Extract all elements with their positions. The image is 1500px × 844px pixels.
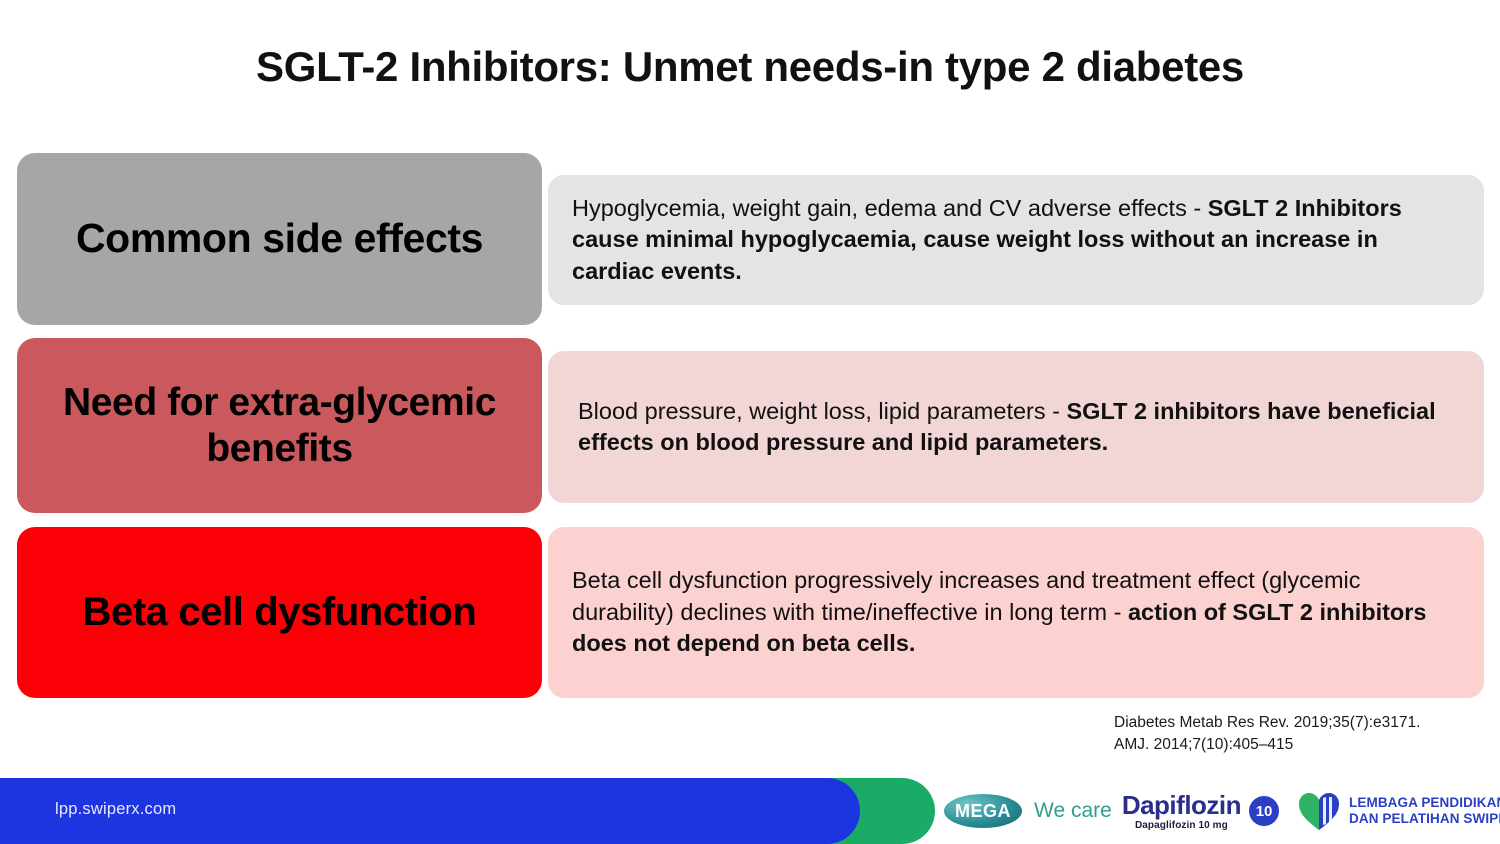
- row-label-text-1: Common side effects: [76, 215, 483, 263]
- lpp-logo-text: LEMBAGA PENDIDIKAN DAN PELATIHAN SWIPERX: [1349, 795, 1500, 828]
- row-beta-cell-dysfunction: Beta cell dysfunction Beta cell dysfunct…: [0, 527, 1500, 698]
- content-rows: Common side effects Hypoglycemia, weight…: [0, 153, 1500, 713]
- row-body-text-2: Blood pressure, weight loss, lipid param…: [578, 396, 1458, 459]
- row-extra-glycemic-benefits: Need for extra-glycemic benefits Blood p…: [0, 338, 1500, 513]
- lpp-logo-line-2: DAN PELATIHAN SWIPERX: [1349, 811, 1500, 827]
- row-body-panel-1: Hypoglycemia, weight gain, edema and CV …: [548, 175, 1484, 305]
- row-body-text-1: Hypoglycemia, weight gain, edema and CV …: [572, 193, 1456, 287]
- footer-url[interactable]: lpp.swiperx.com: [55, 800, 176, 819]
- footer-logos: MEGA We care Dapiflozin Dapaglifozin 10 …: [940, 778, 1500, 844]
- citation-block: Diabetes Metab Res Rev. 2019;35(7):e3171…: [1114, 712, 1484, 757]
- mega-logo: MEGA: [944, 794, 1022, 828]
- row-body-plain-1: Hypoglycemia, weight gain, edema and CV …: [572, 195, 1208, 221]
- dapiflozin-brand: Dapiflozin Dapaglifozin 10 mg: [1122, 792, 1241, 831]
- row-body-plain-2: Blood pressure, weight loss, lipid param…: [578, 398, 1067, 424]
- citation-line-2: AMJ. 2014;7(10):405–415: [1114, 734, 1484, 756]
- row-body-text-3: Beta cell dysfunction progressively incr…: [572, 565, 1458, 661]
- row-common-side-effects: Common side effects Hypoglycemia, weight…: [0, 153, 1500, 325]
- lpp-swiperx-logo: LEMBAGA PENDIDIKAN DAN PELATIHAN SWIPERX: [1297, 790, 1500, 832]
- lpp-logo-line-1: LEMBAGA PENDIDIKAN: [1349, 795, 1500, 811]
- mega-logo-text: MEGA: [955, 801, 1011, 822]
- brand-name: Dapiflozin: [1122, 792, 1241, 818]
- heart-book-icon: [1297, 790, 1343, 832]
- footer: lpp.swiperx.com MEGA We care Dapiflozin …: [0, 778, 1500, 844]
- row-label-text-3: Beta cell dysfunction: [83, 589, 477, 635]
- row-body-panel-3: Beta cell dysfunction progressively incr…: [548, 527, 1484, 698]
- brand-subtitle: Dapaglifozin 10 mg: [1122, 820, 1241, 831]
- row-label-card-1: Common side effects: [17, 153, 542, 325]
- dose-badge-icon: 10: [1249, 796, 1279, 826]
- row-body-panel-2: Blood pressure, weight loss, lipid param…: [548, 351, 1484, 503]
- citation-line-1: Diabetes Metab Res Rev. 2019;35(7):e3171…: [1114, 712, 1484, 734]
- page-title: SGLT-2 Inhibitors: Unmet needs-in type 2…: [0, 44, 1500, 90]
- we-care-tagline: We care: [1034, 799, 1112, 823]
- row-label-card-3: Beta cell dysfunction: [17, 527, 542, 698]
- row-label-card-2: Need for extra-glycemic benefits: [17, 338, 542, 513]
- row-label-text-2: Need for extra-glycemic benefits: [31, 380, 528, 470]
